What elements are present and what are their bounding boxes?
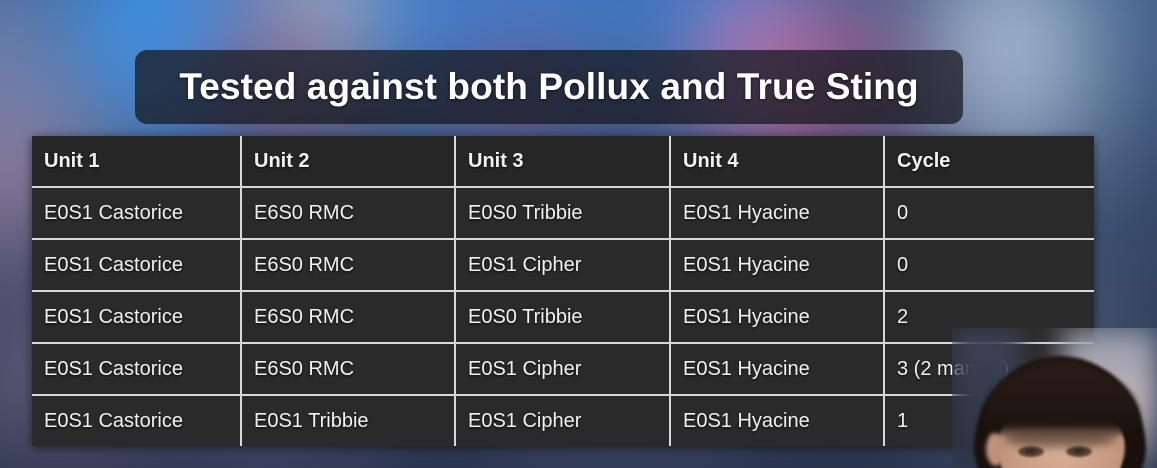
cell-unit-3: E0S0 Tribbie bbox=[455, 291, 670, 343]
screenshot-root: Tested against both Pollux and True Stin… bbox=[0, 0, 1157, 468]
table-row: E0S1 Castorice E0S1 Tribbie E0S1 Cipher … bbox=[32, 395, 1094, 446]
cell-unit-4: E0S1 Hyacine bbox=[670, 343, 884, 395]
column-header-unit-2: Unit 2 bbox=[241, 136, 455, 187]
table-header-row: Unit 1 Unit 2 Unit 3 Unit 4 Cycle bbox=[32, 136, 1094, 187]
cell-unit-4: E0S1 Hyacine bbox=[670, 395, 884, 446]
cell-cycle: 1 bbox=[884, 395, 1094, 446]
table-row: E0S1 Castorice E6S0 RMC E0S1 Cipher E0S1… bbox=[32, 343, 1094, 395]
cell-unit-1: E0S1 Castorice bbox=[32, 187, 241, 239]
cell-unit-4: E0S1 Hyacine bbox=[670, 187, 884, 239]
cell-unit-2: E6S0 RMC bbox=[241, 187, 455, 239]
cell-unit-1: E0S1 Castorice bbox=[32, 291, 241, 343]
column-header-unit-1: Unit 1 bbox=[32, 136, 241, 187]
cell-unit-3: E0S1 Cipher bbox=[455, 395, 670, 446]
cell-unit-2: E6S0 RMC bbox=[241, 343, 455, 395]
cell-unit-1: E0S1 Castorice bbox=[32, 395, 241, 446]
cell-cycle: 2 bbox=[884, 291, 1094, 343]
table-row: E0S1 Castorice E6S0 RMC E0S0 Tribbie E0S… bbox=[32, 291, 1094, 343]
cell-unit-3: E0S1 Cipher bbox=[455, 343, 670, 395]
cell-unit-3: E0S0 Tribbie bbox=[455, 187, 670, 239]
column-header-unit-3: Unit 3 bbox=[455, 136, 670, 187]
cell-unit-1: E0S1 Castorice bbox=[32, 239, 241, 291]
cell-unit-2: E0S1 Tribbie bbox=[241, 395, 455, 446]
cell-unit-4: E0S1 Hyacine bbox=[670, 291, 884, 343]
table-row: E0S1 Castorice E6S0 RMC E0S0 Tribbie E0S… bbox=[32, 187, 1094, 239]
column-header-cycle: Cycle bbox=[884, 136, 1094, 187]
results-table-container: Unit 1 Unit 2 Unit 3 Unit 4 Cycle E0S1 C… bbox=[32, 136, 1094, 446]
title-banner: Tested against both Pollux and True Stin… bbox=[135, 50, 963, 124]
column-header-unit-4: Unit 4 bbox=[670, 136, 884, 187]
cell-cycle: 0 bbox=[884, 187, 1094, 239]
results-table: Unit 1 Unit 2 Unit 3 Unit 4 Cycle E0S1 C… bbox=[32, 136, 1094, 446]
cell-cycle: 0 bbox=[884, 239, 1094, 291]
page-title: Tested against both Pollux and True Stin… bbox=[179, 66, 918, 108]
table-row: E0S1 Castorice E6S0 RMC E0S1 Cipher E0S1… bbox=[32, 239, 1094, 291]
cell-unit-2: E6S0 RMC bbox=[241, 291, 455, 343]
cell-unit-4: E0S1 Hyacine bbox=[670, 239, 884, 291]
cell-unit-2: E6S0 RMC bbox=[241, 239, 455, 291]
cell-unit-3: E0S1 Cipher bbox=[455, 239, 670, 291]
cell-cycle: 3 (2 manual) bbox=[884, 343, 1094, 395]
cell-unit-1: E0S1 Castorice bbox=[32, 343, 241, 395]
